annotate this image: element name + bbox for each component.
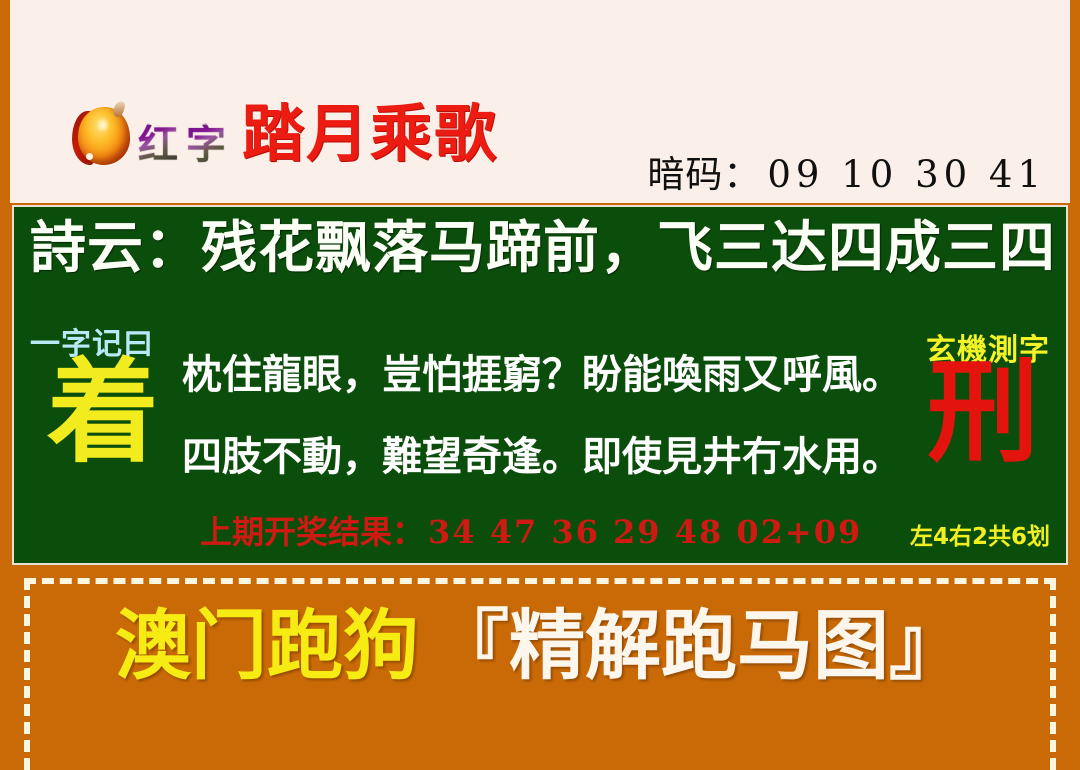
previous-result-row: 上期开奖结果：34 47 36 29 48 02+09 — [200, 507, 862, 553]
couplet-line-2: 四肢不動，難望奇逢。即使見井冇水用。 — [182, 437, 924, 477]
verse-text: 残花飘落马蹄前，飞三达四成三四 — [201, 216, 1056, 281]
header-card: 红 字 踏月乘歌 暗码：09 10 30 41 — [10, 0, 1070, 203]
bottom-banner: 澳门跑狗『精解跑马图』 — [0, 570, 1080, 770]
banner-title-primary: 澳门跑狗 — [115, 601, 419, 690]
logo-fruit-stem — [112, 100, 126, 118]
green-board: 詩云：残花飘落马蹄前，飞三达四成三四 一字记曰 玄機測字 着 刑 枕住龍眼，豈怕… — [12, 205, 1068, 565]
logo-glyph-2: 字 — [186, 125, 228, 165]
verse-label: 詩云： — [30, 216, 201, 281]
logo-floral-glyphs: 红 字 — [138, 103, 228, 165]
secret-code-label: 暗码： — [647, 153, 761, 196]
brand-row: 红 字 踏月乘歌 — [72, 88, 498, 180]
logo-fruit-dot — [86, 153, 93, 160]
couplet-block: 枕住龍眼，豈怕捱窮？盼能喚雨又呼風。 四肢不動，難望奇逢。即使見井冇水用。 — [182, 355, 924, 519]
previous-result-label: 上期开奖结果： — [200, 513, 424, 551]
logo-fruit-highlight — [96, 117, 110, 133]
poster-root: 红 字 踏月乘歌 暗码：09 10 30 41 詩云：残花飘落马蹄前，飞三达四成… — [0, 0, 1080, 770]
couplet-line-1: 枕住龍眼，豈怕捱窮？盼能喚雨又呼風。 — [182, 355, 924, 395]
stroke-count-note: 左4右2共6划 — [910, 517, 1050, 551]
big-char-left: 着 — [28, 357, 178, 469]
brand-title: 踏月乘歌 — [242, 103, 498, 165]
secret-code: 暗码：09 10 30 41 — [647, 144, 1046, 198]
previous-result-numbers: 34 47 36 29 48 02+09 — [428, 513, 862, 551]
big-char-right: 刑 — [908, 357, 1058, 469]
banner-title-secondary: 『精解跑马图』 — [433, 601, 965, 690]
banner-title: 澳门跑狗『精解跑马图』 — [0, 608, 1080, 684]
verse-line: 詩云：残花飘落马蹄前，飞三达四成三四 — [30, 213, 1056, 286]
secret-code-numbers: 09 10 30 41 — [767, 153, 1046, 196]
logo-glyph-1: 红 — [138, 125, 180, 165]
glossy-fruit-logo-icon — [72, 101, 132, 167]
